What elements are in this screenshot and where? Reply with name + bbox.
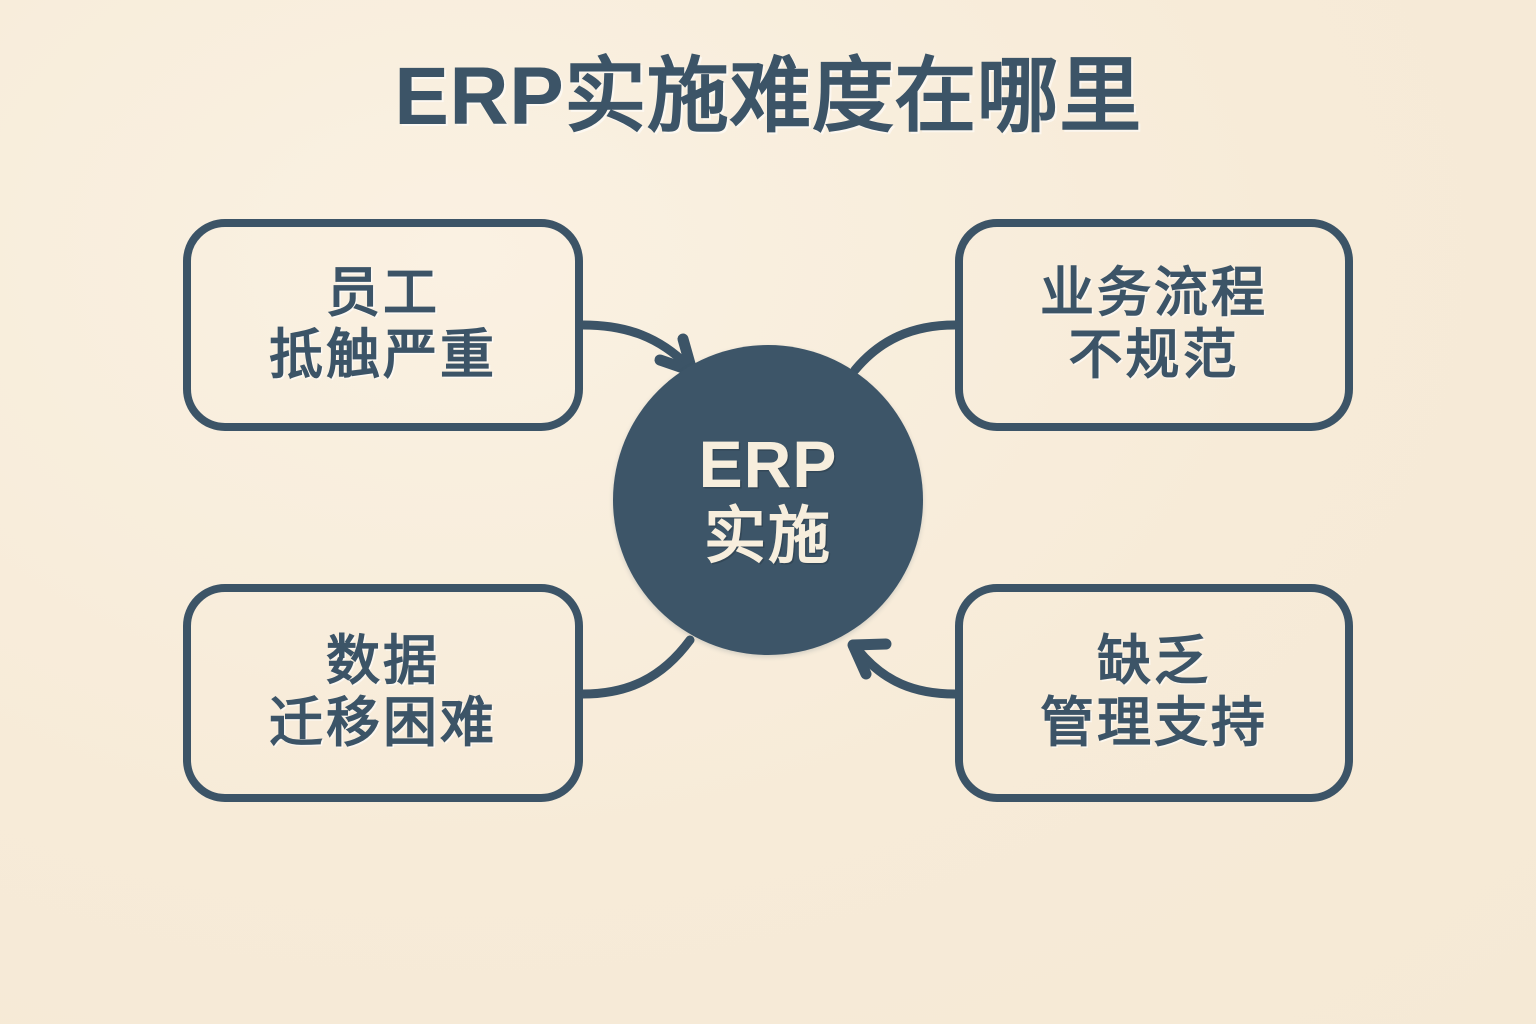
factor-label-line2: 迁移困难 [269,693,497,755]
connector-non-standard-process [855,325,955,370]
factor-label-line1: 缺乏 [1097,631,1211,693]
hub-label-line2: 实施 [704,504,832,571]
hub-node-erp-implementation[interactable]: ERP 实施 [613,345,923,655]
arrowhead-management-support [853,644,886,674]
factor-label-line2: 不规范 [1069,325,1240,387]
factor-label-line1: 员工 [326,263,440,325]
factor-label-line1: 业务流程 [1040,263,1268,325]
page-title: ERP实施难度在哪里 [0,54,1536,140]
connector-management-support [858,650,955,694]
factor-label-line2: 抵触严重 [269,325,497,387]
factor-box-employee-resistance[interactable]: 员工 抵触严重 [183,219,583,431]
connector-employee-resistance [583,325,688,366]
factor-box-data-migration[interactable]: 数据 迁移困难 [183,584,583,802]
diagram-canvas: ERP实施难度在哪里 ERP 实施 员工 抵触严重 业务流程 不规范 数据 迁移… [0,0,1536,1024]
factor-label-line2: 管理支持 [1040,693,1268,755]
hub-label-line1: ERP [699,429,838,500]
factor-label-line1: 数据 [326,631,440,693]
factor-box-management-support[interactable]: 缺乏 管理支持 [955,584,1353,802]
connector-data-migration [583,640,690,694]
factor-box-non-standard-process[interactable]: 业务流程 不规范 [955,219,1353,431]
